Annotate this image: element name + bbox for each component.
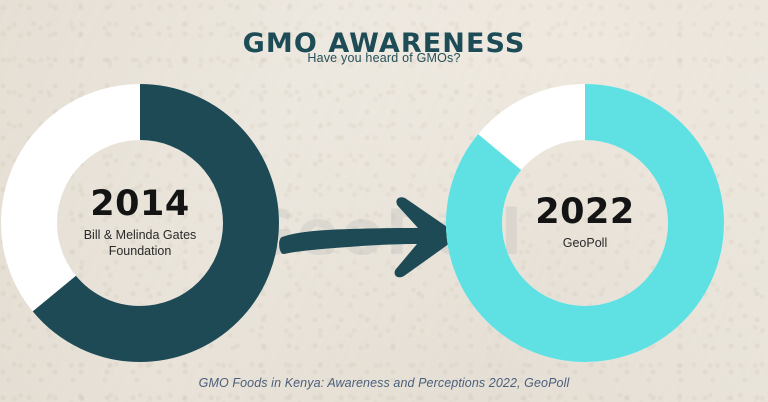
donut-chart-2014: 2014 Bill & Melinda Gates Foundation [1, 84, 279, 362]
donut-2014-svg [1, 84, 279, 362]
infographic-canvas: GeoPoll GMO AWARENESS Have you heard of … [0, 0, 768, 402]
source-caption: GMO Foods in Kenya: Awareness and Percep… [0, 376, 768, 390]
donut-chart-2022: 2022 GeoPoll [446, 84, 724, 362]
donut-2022-svg [446, 84, 724, 362]
transition-arrow-icon [278, 182, 458, 288]
page-subtitle: Have you heard of GMOs? [0, 51, 768, 65]
